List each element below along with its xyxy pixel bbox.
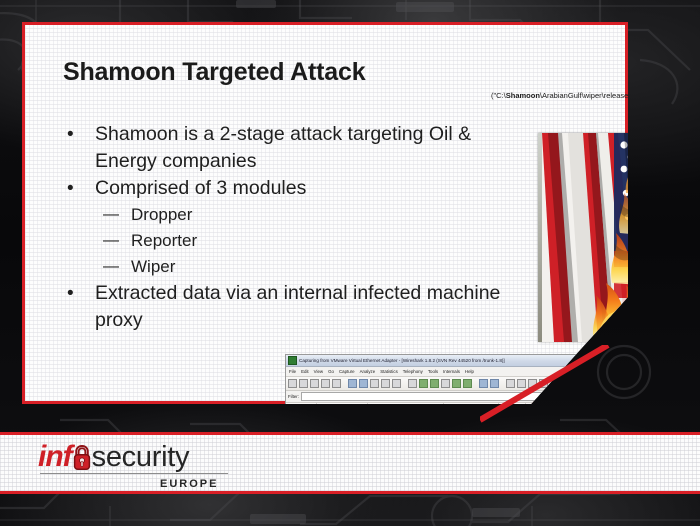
capture-interfaces-icon[interactable] [332, 379, 341, 388]
filter-label: Filter: [288, 394, 299, 399]
zoom-reset-icon[interactable] [528, 379, 537, 388]
zoom-in-icon[interactable] [506, 379, 515, 388]
pdb-path-prefix: ("C:\ [491, 91, 506, 100]
menu-item-help[interactable]: Help [465, 367, 474, 376]
menu-item-go[interactable]: Go [328, 367, 334, 376]
wireshark-window-title: Capturing from VMware Virtual Ethernet A… [299, 357, 587, 364]
slide-content-frame: Shamoon Targeted Attack ("C:\Shamoon\Ara… [22, 22, 628, 404]
logo-underline [40, 473, 228, 474]
filter-input[interactable] [301, 392, 563, 401]
menu-item-capture[interactable]: Capture [339, 367, 355, 376]
menu-item-tools[interactable]: Tools [428, 367, 438, 376]
list-item: • Shamoon is a 2-stage attack targeting … [61, 121, 516, 175]
list-item: • Extracted data via an internal infecte… [61, 280, 516, 334]
colorize-icon[interactable] [479, 379, 488, 388]
autoscroll-icon[interactable] [490, 379, 499, 388]
list-item-text: Dropper [131, 205, 192, 224]
logo-region-text: EUROPE [160, 478, 218, 490]
restart-capture-icon[interactable] [310, 379, 319, 388]
list-item: — Dropper [61, 202, 516, 228]
list-item: • Comprised of 3 modules [61, 175, 516, 202]
logo-info-text: inf [38, 442, 72, 472]
list-item-text: Comprised of 3 modules [95, 177, 306, 199]
resize-columns-icon[interactable] [539, 379, 548, 388]
menu-item-internals[interactable]: Internals [443, 367, 460, 376]
stop-capture-icon[interactable] [299, 379, 308, 388]
pdb-path-bold: Shamoon [506, 91, 540, 100]
zoom-out-icon[interactable] [517, 379, 526, 388]
menu-item-analyze[interactable]: Analyze [360, 367, 376, 376]
padlock-icon [72, 442, 92, 472]
menu-item-telephony[interactable]: Telephony [403, 367, 423, 376]
save-file-icon[interactable] [359, 379, 368, 388]
menu-item-statistics[interactable]: Statistics [380, 367, 398, 376]
reload-icon[interactable] [381, 379, 390, 388]
go-last-packet-icon[interactable] [463, 379, 472, 388]
bullet-marker: • [67, 121, 74, 148]
go-to-packet-icon[interactable] [441, 379, 450, 388]
bullet-marker: • [67, 175, 74, 202]
bullet-list: • Shamoon is a 2-stage attack targeting … [61, 121, 516, 334]
open-file-icon[interactable] [348, 379, 357, 388]
logo-security-text: security [92, 442, 190, 472]
list-item-text: Reporter [131, 231, 197, 250]
menu-item-edit[interactable]: Edit [301, 367, 309, 376]
wireshark-icon [288, 356, 297, 365]
logo-wordmark: inf security [38, 440, 268, 472]
list-item: — Reporter [61, 228, 516, 254]
list-item: — Wiper [61, 254, 516, 280]
capture-options-icon[interactable] [321, 379, 330, 388]
list-item-text: Extracted data via an internal infected … [95, 282, 500, 331]
dash-marker: — [103, 254, 119, 280]
go-back-icon[interactable] [419, 379, 428, 388]
dash-marker: — [103, 228, 119, 254]
list-item-text: Shamoon is a 2-stage attack targeting Oi… [95, 123, 471, 172]
page-title: Shamoon Targeted Attack [63, 58, 365, 87]
dash-marker: — [103, 202, 119, 228]
menu-item-view[interactable]: View [314, 367, 323, 376]
go-first-packet-icon[interactable] [452, 379, 461, 388]
list-item-text: Wiper [131, 257, 175, 276]
find-packet-icon[interactable] [408, 379, 417, 388]
bullet-marker: • [67, 280, 74, 307]
start-capture-icon[interactable] [288, 379, 297, 388]
infosecurity-europe-logo: inf security EUROPE [38, 440, 268, 490]
close-file-icon[interactable] [370, 379, 379, 388]
menu-item-file[interactable]: File [289, 367, 296, 376]
print-icon[interactable] [392, 379, 401, 388]
go-forward-icon[interactable] [430, 379, 439, 388]
